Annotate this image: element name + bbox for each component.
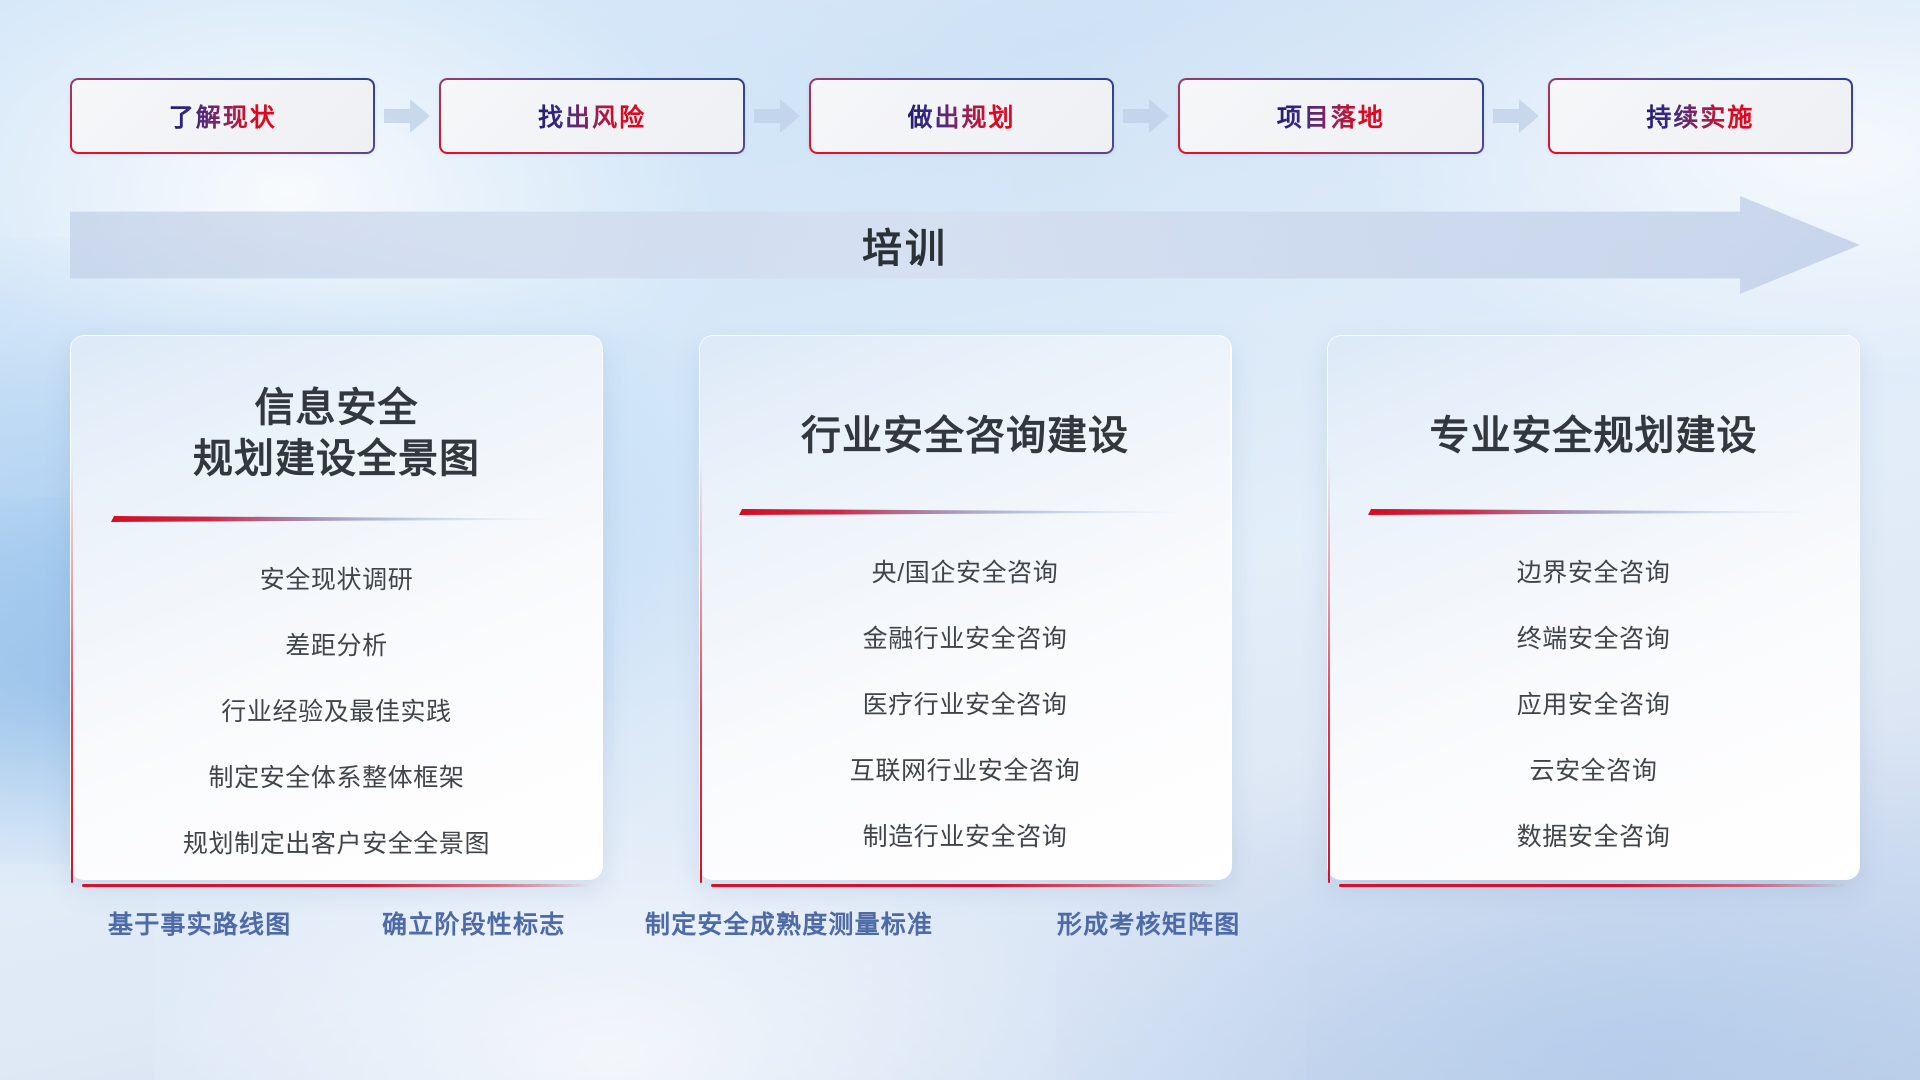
step-arrow-icon-1: [375, 96, 439, 136]
step-arrow-icon-3: [1114, 96, 1178, 136]
card-2-title: 行业安全咨询建设: [699, 411, 1232, 462]
card-1[interactable]: 信息安全 规划建设全景图: [70, 335, 603, 880]
card-1-list: 安全现状调研 差距分析 行业经验及最佳实践 制定安全体系整体框架 规划制定出客户…: [70, 568, 603, 857]
step-label-1: 了解现状: [169, 98, 277, 134]
card-3-divider: [1368, 506, 1820, 517]
card-2-divider: [739, 506, 1191, 517]
step-label-4: 项目落地: [1277, 98, 1385, 134]
card-3-title: 专业安全规划建设: [1327, 411, 1860, 462]
step-label-3: 做出规划: [908, 98, 1016, 134]
card-row: 信息安全 规划建设全景图: [70, 335, 1860, 880]
bottom-label-2: 确立阶段性标志: [382, 905, 565, 941]
list-item: 应用安全咨询: [1327, 693, 1860, 718]
step-flow: 了解现状 找出风险 做出规划 项目落地: [70, 78, 1853, 154]
list-item: 安全现状调研: [70, 568, 603, 593]
list-item: 央/国企安全咨询: [699, 561, 1232, 586]
list-item: 数据安全咨询: [1327, 825, 1860, 850]
step-box-3[interactable]: 做出规划: [809, 78, 1114, 154]
bottom-label-3: 制定安全成熟度测量标准: [645, 905, 933, 941]
bottom-label-1: 基于事实路线图: [108, 905, 291, 941]
step-box-2[interactable]: 找出风险: [439, 78, 744, 154]
list-item: 互联网行业安全咨询: [699, 759, 1232, 784]
step-arrow-icon-2: [745, 96, 809, 136]
list-item: 行业经验及最佳实践: [70, 700, 603, 725]
list-item: 制造行业安全咨询: [699, 825, 1232, 850]
card-2[interactable]: 行业安全咨询建设: [699, 335, 1232, 880]
bottom-label-row: 基于事实路线图 确立阶段性标志 制定安全成熟度测量标准 形成考核矩阵图: [0, 905, 1920, 965]
step-arrow-icon-4: [1484, 96, 1548, 136]
step-box-5[interactable]: 持续实施: [1548, 78, 1853, 154]
list-item: 云安全咨询: [1327, 759, 1860, 784]
training-banner: 培训: [70, 196, 1860, 294]
card-2-list: 央/国企安全咨询 金融行业安全咨询 医疗行业安全咨询 互联网行业安全咨询 制造行…: [699, 561, 1232, 850]
list-item: 边界安全咨询: [1327, 561, 1860, 586]
slide-canvas: 了解现状 找出风险 做出规划 项目落地: [0, 0, 1920, 1080]
step-label-2: 找出风险: [538, 98, 646, 134]
list-item: 规划制定出客户安全全景图: [70, 832, 603, 857]
list-item: 终端安全咨询: [1327, 627, 1860, 652]
step-box-1[interactable]: 了解现状: [70, 78, 375, 154]
list-item: 金融行业安全咨询: [699, 627, 1232, 652]
banner-title: 培训: [70, 216, 1860, 274]
step-box-4[interactable]: 项目落地: [1178, 78, 1483, 154]
card-1-divider: [111, 513, 563, 524]
list-item: 差距分析: [70, 634, 603, 659]
step-label-5: 持续实施: [1646, 98, 1754, 134]
list-item: 制定安全体系整体框架: [70, 766, 603, 791]
card-3-list: 边界安全咨询 终端安全咨询 应用安全咨询 云安全咨询 数据安全咨询: [1327, 561, 1860, 850]
card-1-title: 信息安全 规划建设全景图: [70, 383, 603, 485]
bottom-label-4: 形成考核矩阵图: [1057, 905, 1240, 941]
card-3[interactable]: 专业安全规划建设: [1327, 335, 1860, 880]
list-item: 医疗行业安全咨询: [699, 693, 1232, 718]
